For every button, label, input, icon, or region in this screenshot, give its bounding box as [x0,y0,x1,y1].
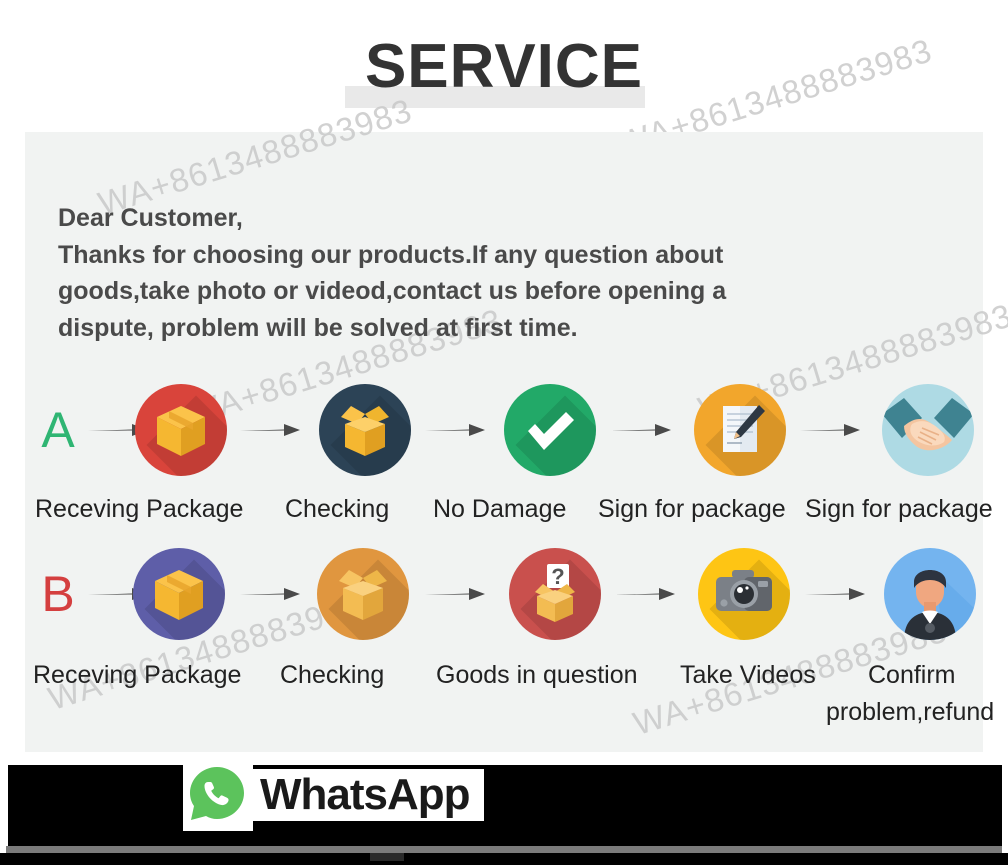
camera-icon [698,548,790,640]
whatsapp-brand-text: WhatsApp [252,769,484,821]
package-box-icon [135,384,227,476]
check-mark-icon [504,384,596,476]
flow-step: ? [509,548,601,640]
flow-step [882,384,974,476]
handshake-icon [882,384,974,476]
open-box-icon [319,384,411,476]
arrow-icon [805,584,867,604]
step-label: Sign for package [805,492,993,526]
whatsapp-icon [188,765,246,823]
flow-step [694,384,786,476]
step-label: Receving Package [35,492,243,526]
whatsapp-footer: WhatsApp [0,765,1008,865]
step-label: Take Videos [680,658,816,692]
flow-step [317,548,409,640]
flow-labels-a: Receving Package Checking No Damage Sign… [0,492,1008,526]
customer-message: Dear Customer, Thanks for choosing our p… [58,200,908,346]
flow-step [884,548,976,640]
message-line: Thanks for choosing our products.If any … [58,237,908,274]
page-title: SERVICE [0,28,1008,106]
flow-badge-b: B [30,548,86,640]
arrow-icon [615,584,677,604]
support-person-icon [884,548,976,640]
step-label: Receving Package [33,658,241,692]
arrow-icon [425,420,487,440]
footer-gray-bar [6,846,1002,853]
message-line: Dear Customer, [58,200,908,237]
service-info-page: SERVICE WA+8613488883983 WA+861348888398… [0,0,1008,865]
message-line: goods,take photo or videod,contact us be… [58,273,908,310]
message-line: dispute, problem will be solved at first… [58,310,908,347]
footer-right-edge [1002,765,1008,853]
question-box-icon: ? [509,548,601,640]
arrow-icon [800,420,862,440]
step-label: Confirm [868,658,956,692]
flow-badge-a: A [30,384,86,476]
footer-left-edge [0,765,8,853]
step-label: Goods in question [436,658,638,692]
step-label: Checking [285,492,389,526]
arrow-icon [425,584,487,604]
package-box-icon [133,548,225,640]
flow-row-b: B [0,548,1008,640]
step-label: Checking [280,658,384,692]
page-title-area: SERVICE [0,28,1008,106]
open-box-icon [317,548,409,640]
flow-row-a: A [0,384,1008,476]
flow-labels-b: Receving Package Checking Goods in quest… [0,658,1008,692]
step-label: Sign for package [598,492,786,526]
flow-step [698,548,790,640]
flow-step [133,548,225,640]
svg-text:?: ? [551,564,564,589]
flow-step [135,384,227,476]
arrow-icon [240,584,302,604]
arrow-icon [240,420,302,440]
footnote-text: problem,refund [826,698,994,727]
arrow-icon [611,420,673,440]
flow-step [319,384,411,476]
flow-step [504,384,596,476]
sign-document-icon [694,384,786,476]
step-label: No Damage [433,492,566,526]
